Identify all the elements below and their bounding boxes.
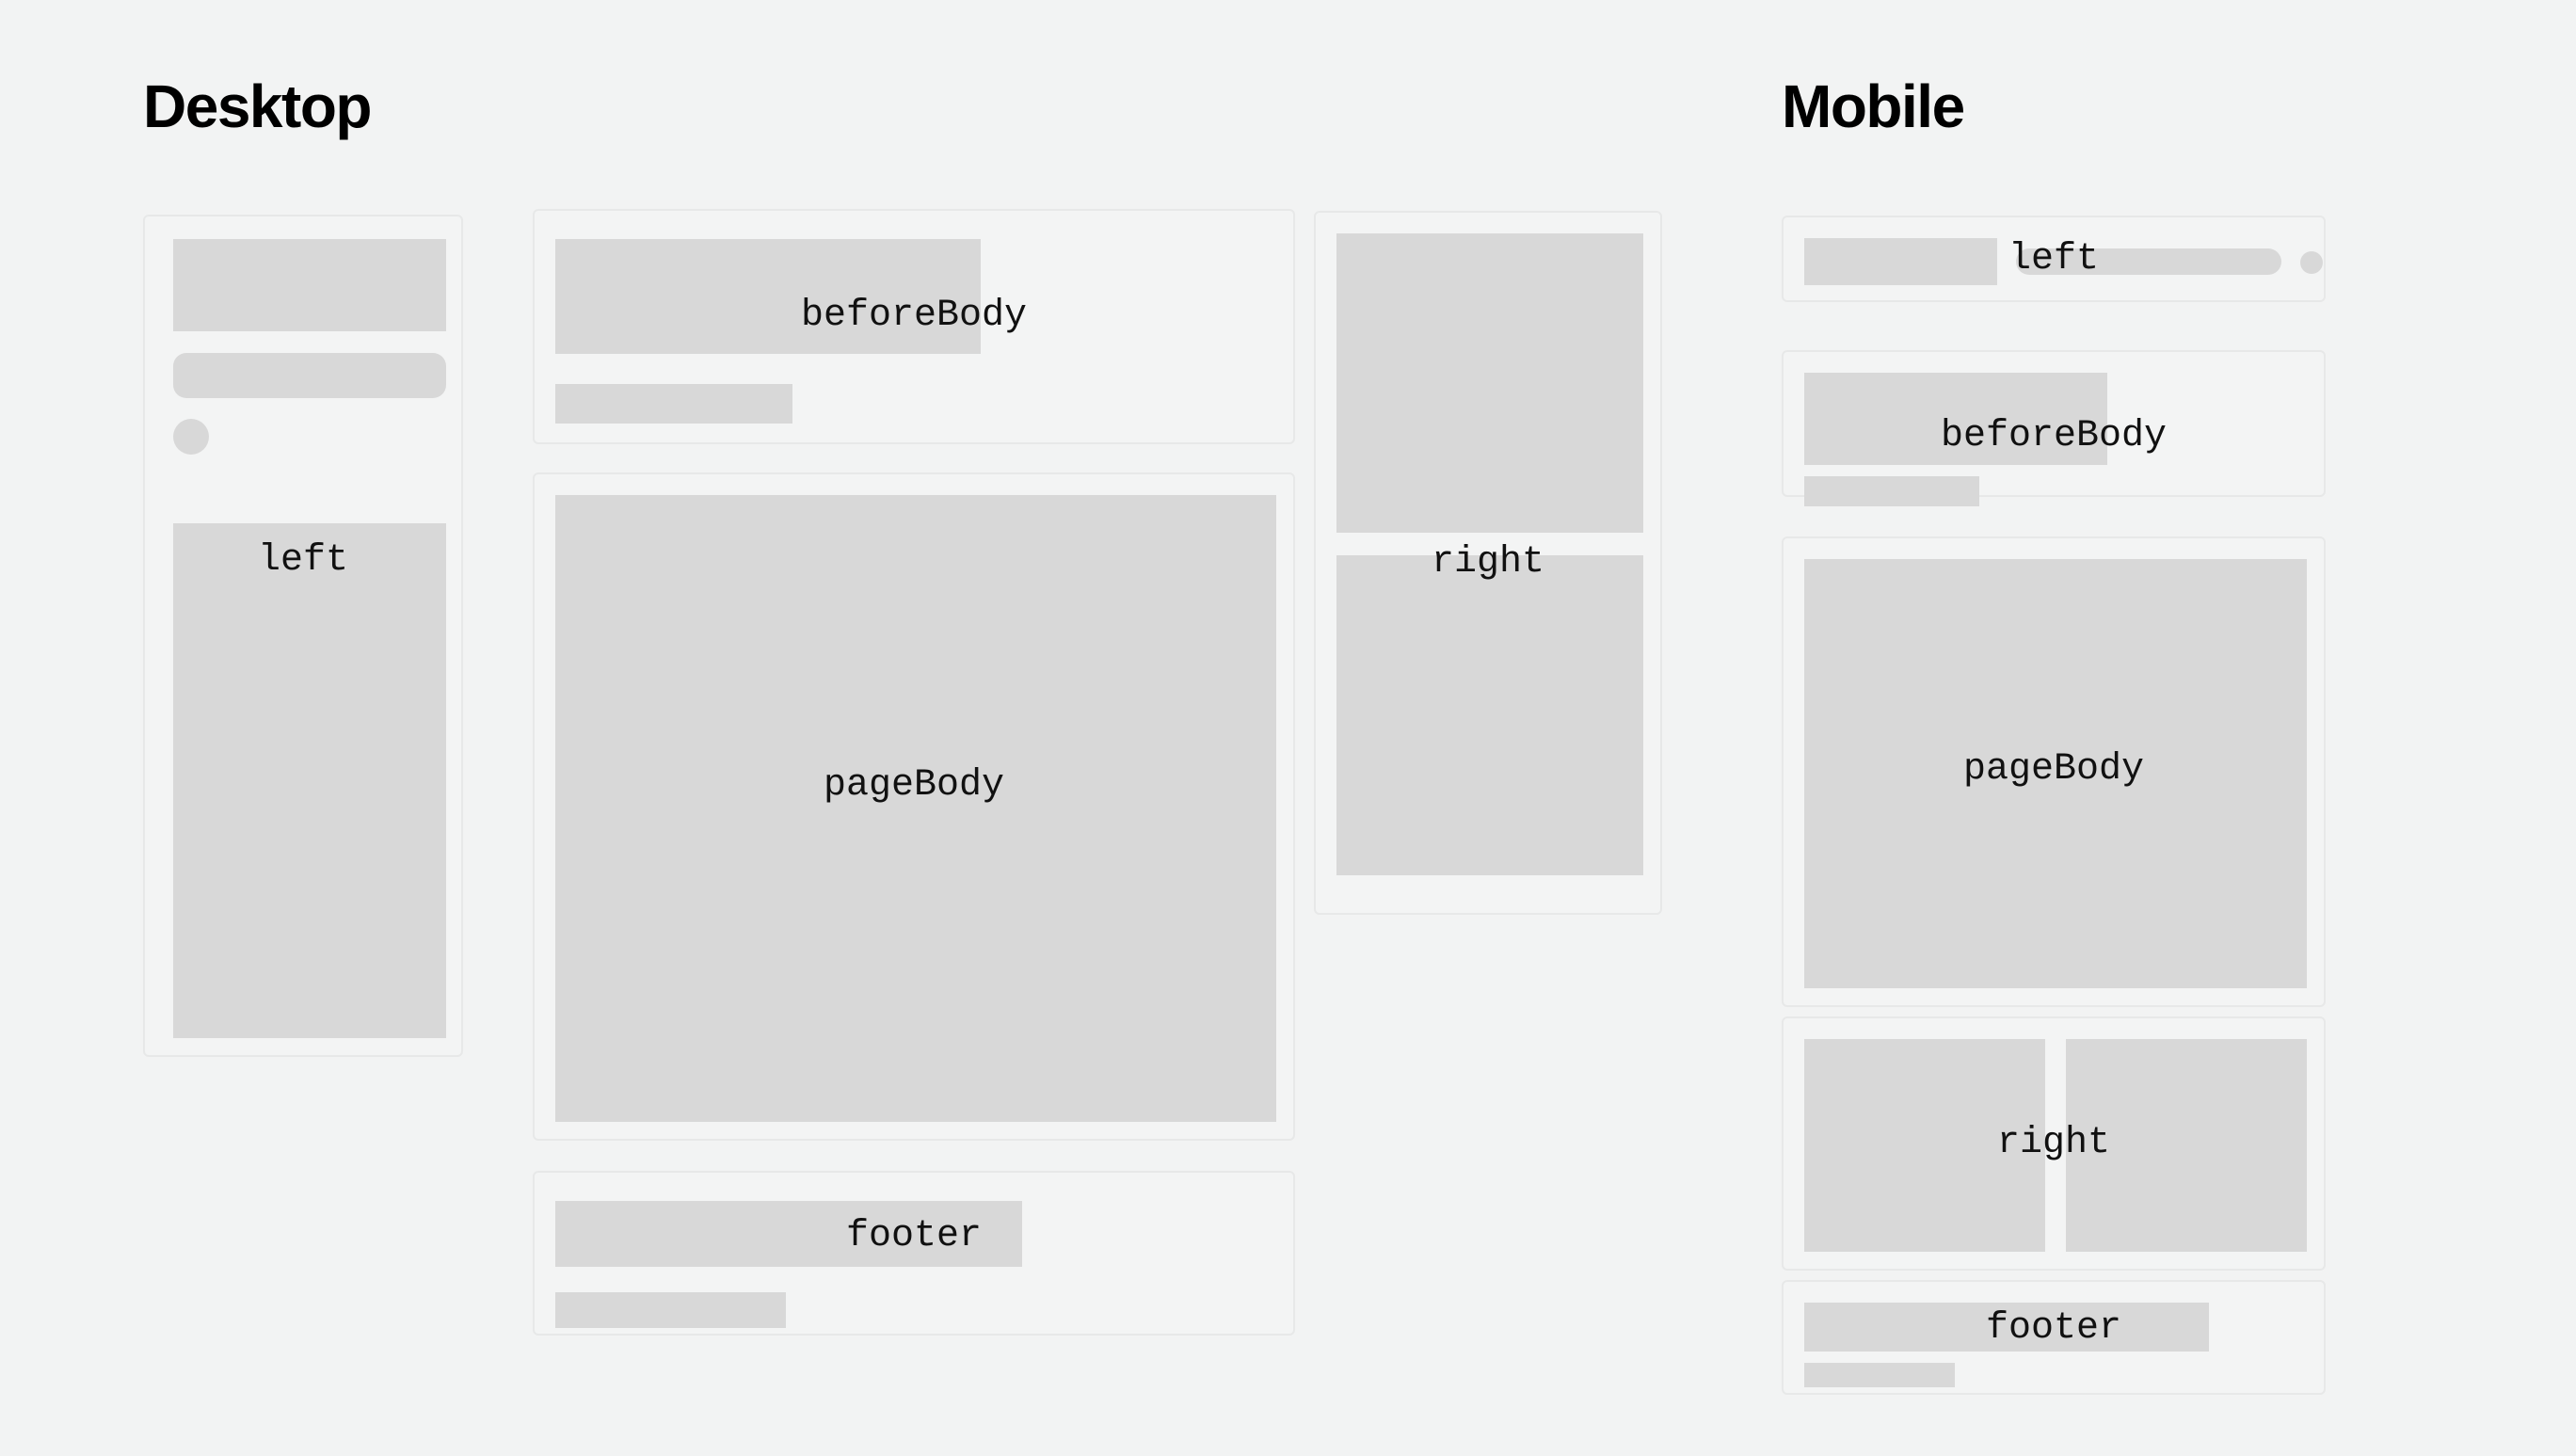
mobile-footer-block-main — [1804, 1303, 2209, 1352]
mobile-beforebody-block-caption — [1804, 476, 1979, 506]
desktop-beforebody-region-panel[interactable] — [533, 209, 1295, 444]
desktop-right-region-panel[interactable] — [1314, 211, 1662, 915]
desktop-beforebody-block-main — [555, 239, 981, 354]
mobile-left-block-bar — [2016, 248, 2281, 275]
mobile-left-block-large — [1804, 238, 1997, 285]
desktop-left-block-tall — [173, 523, 446, 1038]
desktop-pagebody-block-main — [555, 495, 1276, 1122]
desktop-footer-region-panel[interactable] — [533, 1171, 1295, 1336]
mobile-beforebody-block-main — [1804, 373, 2107, 465]
desktop-left-block-large — [173, 239, 446, 331]
desktop-left-block-bar — [173, 353, 446, 398]
desktop-right-block-bottom — [1336, 555, 1643, 875]
mobile-section-title: Mobile — [1782, 76, 1964, 136]
mobile-right-region-panel[interactable] — [1782, 1016, 2326, 1271]
mobile-beforebody-region-panel[interactable] — [1782, 350, 2326, 497]
mobile-right-block-right — [2066, 1039, 2307, 1252]
mobile-left-region-panel[interactable] — [1782, 216, 2326, 302]
desktop-section-title: Desktop — [143, 76, 371, 136]
mobile-pagebody-region-panel[interactable] — [1782, 536, 2326, 1007]
desktop-right-block-top — [1336, 233, 1643, 533]
desktop-pagebody-region-panel[interactable] — [533, 472, 1295, 1141]
mobile-footer-region-panel[interactable] — [1782, 1280, 2326, 1395]
mobile-right-block-left — [1804, 1039, 2045, 1252]
mobile-left-block-avatar — [2300, 251, 2323, 274]
mobile-pagebody-block-main — [1804, 559, 2307, 988]
desktop-left-block-avatar — [173, 419, 209, 455]
desktop-left-region-panel[interactable] — [143, 215, 463, 1057]
desktop-footer-block-main — [555, 1201, 1022, 1267]
mobile-footer-block-caption — [1804, 1363, 1955, 1387]
desktop-footer-block-caption — [555, 1292, 786, 1328]
desktop-beforebody-block-caption — [555, 384, 792, 424]
